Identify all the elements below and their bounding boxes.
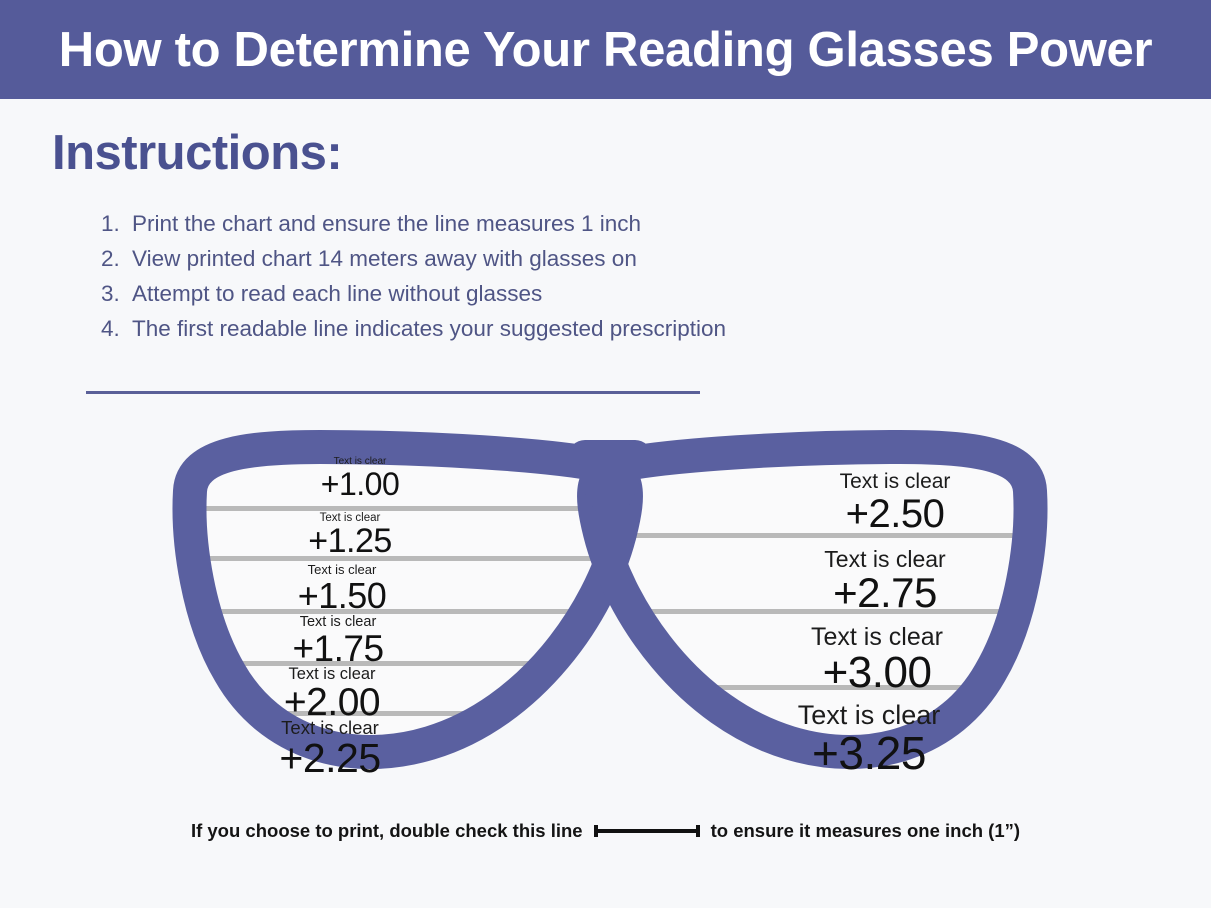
row-power: +1.25 (230, 524, 470, 560)
right-lens-row-2: Text is clear +2.75 (760, 547, 1010, 615)
row-power: +3.00 (752, 650, 1002, 696)
row-power: +1.00 (240, 468, 480, 502)
row-power: +1.50 (222, 577, 462, 615)
row-power: +1.75 (218, 630, 458, 669)
row-caption: Text is clear (744, 701, 994, 729)
instruction-item-3: Attempt to read each line without glasse… (126, 276, 766, 311)
left-lens-row-3: Text is clear +1.50 (222, 563, 462, 614)
ruler-cap-left (594, 825, 598, 837)
left-lens-row-6: Text is clear +2.25 (210, 718, 450, 780)
row-caption: Text is clear (770, 471, 1020, 493)
instruction-item-2: View printed chart 14 meters away with g… (126, 241, 766, 276)
page-header: How to Determine Your Reading Glasses Po… (0, 0, 1211, 99)
row-caption: Text is clear (752, 624, 1002, 650)
row-power: +2.50 (770, 493, 1020, 535)
one-inch-reference-line (594, 824, 700, 838)
row-power: +2.25 (210, 737, 450, 780)
eye-chart-glasses: Text is clear +1.00 Text is clear +1.25 … (130, 413, 1090, 813)
right-lens-row-1: Text is clear +2.50 (770, 471, 1020, 535)
instructions-heading: Instructions: (52, 125, 342, 181)
ruler-cap-right (696, 825, 700, 837)
left-lens-row-2: Text is clear +1.25 (230, 512, 470, 560)
right-lens-row-4: Text is clear +3.25 (744, 701, 994, 778)
footer-text-before: If you choose to print, double check thi… (191, 820, 583, 842)
footer-text-after: to ensure it measures one inch (1”) (711, 820, 1020, 842)
left-lens-row-1: Text is clear +1.00 (240, 457, 480, 501)
row-power: +2.75 (760, 571, 1010, 615)
instructions-list: Print the chart and ensure the line meas… (86, 206, 766, 346)
left-lens-row-4: Text is clear +1.75 (218, 615, 458, 669)
row-power: +3.25 (744, 729, 994, 777)
left-lens-row-5: Text is clear +2.00 (212, 666, 452, 724)
section-divider (86, 391, 700, 394)
right-lens-row-3: Text is clear +3.00 (752, 624, 1002, 696)
row-caption: Text is clear (760, 547, 1010, 571)
footer-caption: If you choose to print, double check thi… (0, 820, 1211, 842)
instruction-item-1: Print the chart and ensure the line meas… (126, 206, 766, 241)
instruction-item-4: The first readable line indicates your s… (126, 311, 766, 346)
ruler-bar (594, 829, 700, 833)
page-title: How to Determine Your Reading Glasses Po… (59, 22, 1153, 78)
